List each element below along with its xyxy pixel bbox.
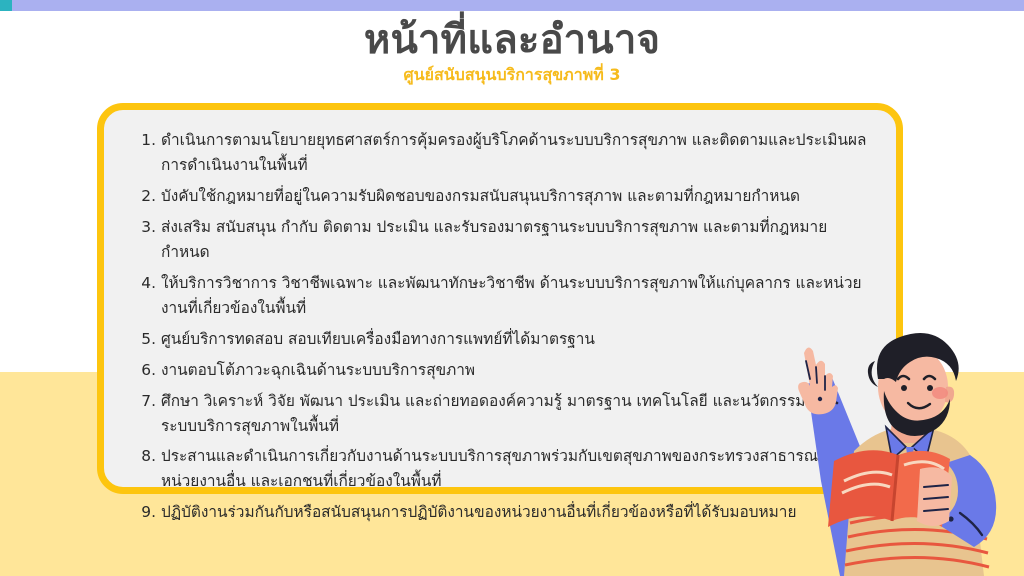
list-item: ประสานและดำเนินการเกี่ยวกับงานด้านระบบบร… [130, 444, 870, 494]
slide-header: หน้าที่และอำนาจ ศูนย์สนับสนุนบริการสุขภา… [0, 18, 1024, 84]
list-item: ให้บริการวิชาการ วิชาชีพเฉพาะ และพัฒนาทั… [130, 271, 870, 321]
list-item: ศึกษา วิเคราะห์ วิจัย พัฒนา ประเมิน และถ… [130, 389, 870, 439]
top-teal-accent [0, 0, 12, 11]
top-lavender-bar [0, 0, 1024, 11]
list-item: ดำเนินการตามนโยบายยุทธศาสตร์การคุ้มครองผ… [130, 128, 870, 178]
list-item: งานตอบโต้ภาวะฉุกเฉินด้านระบบบริการสุขภาพ [130, 358, 870, 383]
content-card: ดำเนินการตามนโยบายยุทธศาสตร์การคุ้มครองผ… [97, 103, 903, 494]
list-item: ส่งเสริม สนับสนุน กำกับ ติดตาม ประเมิน แ… [130, 215, 870, 265]
slide-canvas: หน้าที่และอำนาจ ศูนย์สนับสนุนบริการสุขภา… [0, 0, 1024, 576]
list-item: บังคับใช้กฎหมายที่อยู่ในความรับผิดชอบของ… [130, 184, 870, 209]
page-subtitle: ศูนย์สนับสนุนบริการสุขภาพที่ 3 [0, 65, 1024, 84]
duty-list: ดำเนินการตามนโยบายยุทธศาสตร์การคุ้มครองผ… [130, 128, 870, 525]
list-item: ปฏิบัติงานร่วมกันกับหรือสนับสนุนการปฏิบั… [130, 500, 870, 525]
list-item: ศูนย์บริการทดสอบ สอบเทียบเครื่องมือทางกา… [130, 327, 870, 352]
page-title: หน้าที่และอำนาจ [0, 18, 1024, 63]
